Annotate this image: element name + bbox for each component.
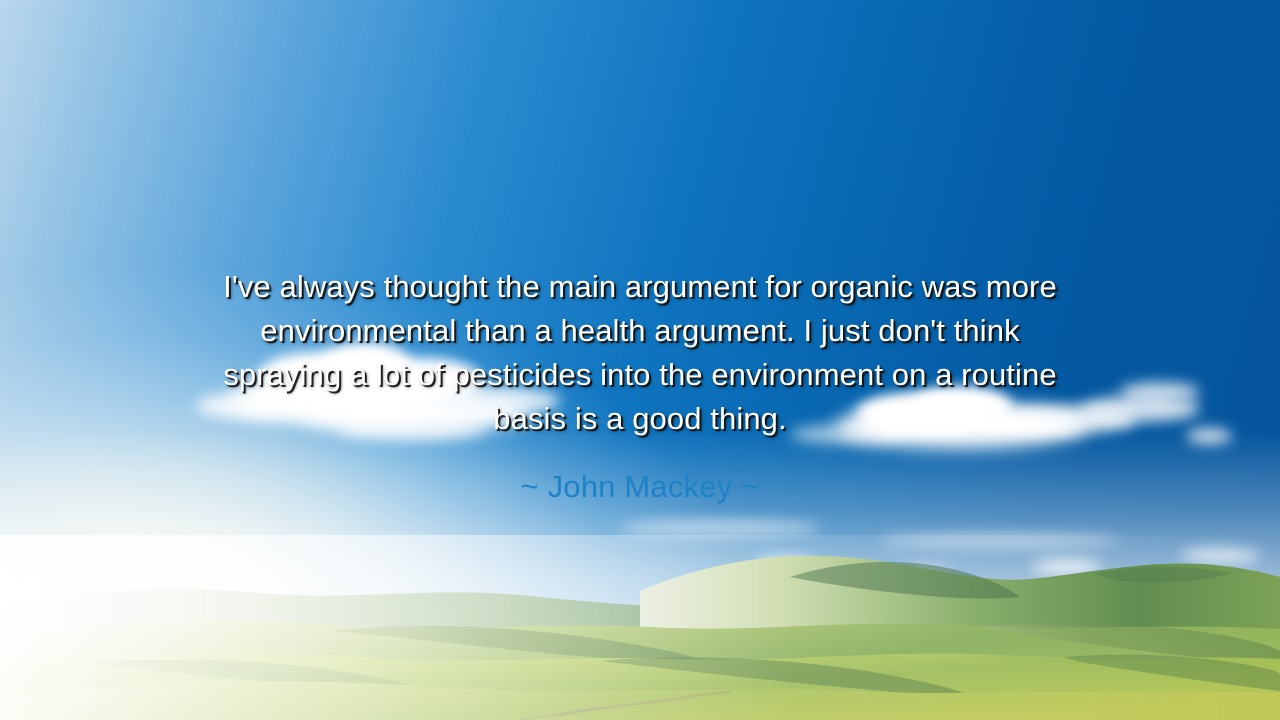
quote-wallpaper: I've always thought the main argument fo… (0, 0, 1280, 720)
quote-block: I've always thought the main argument fo… (125, 265, 1155, 441)
hills-illustration (0, 535, 1280, 720)
quote-text: I've always thought the main argument fo… (125, 265, 1155, 441)
quote-author: ~ John Mackey ~ (190, 466, 1090, 508)
rolling-hills (0, 535, 1280, 720)
